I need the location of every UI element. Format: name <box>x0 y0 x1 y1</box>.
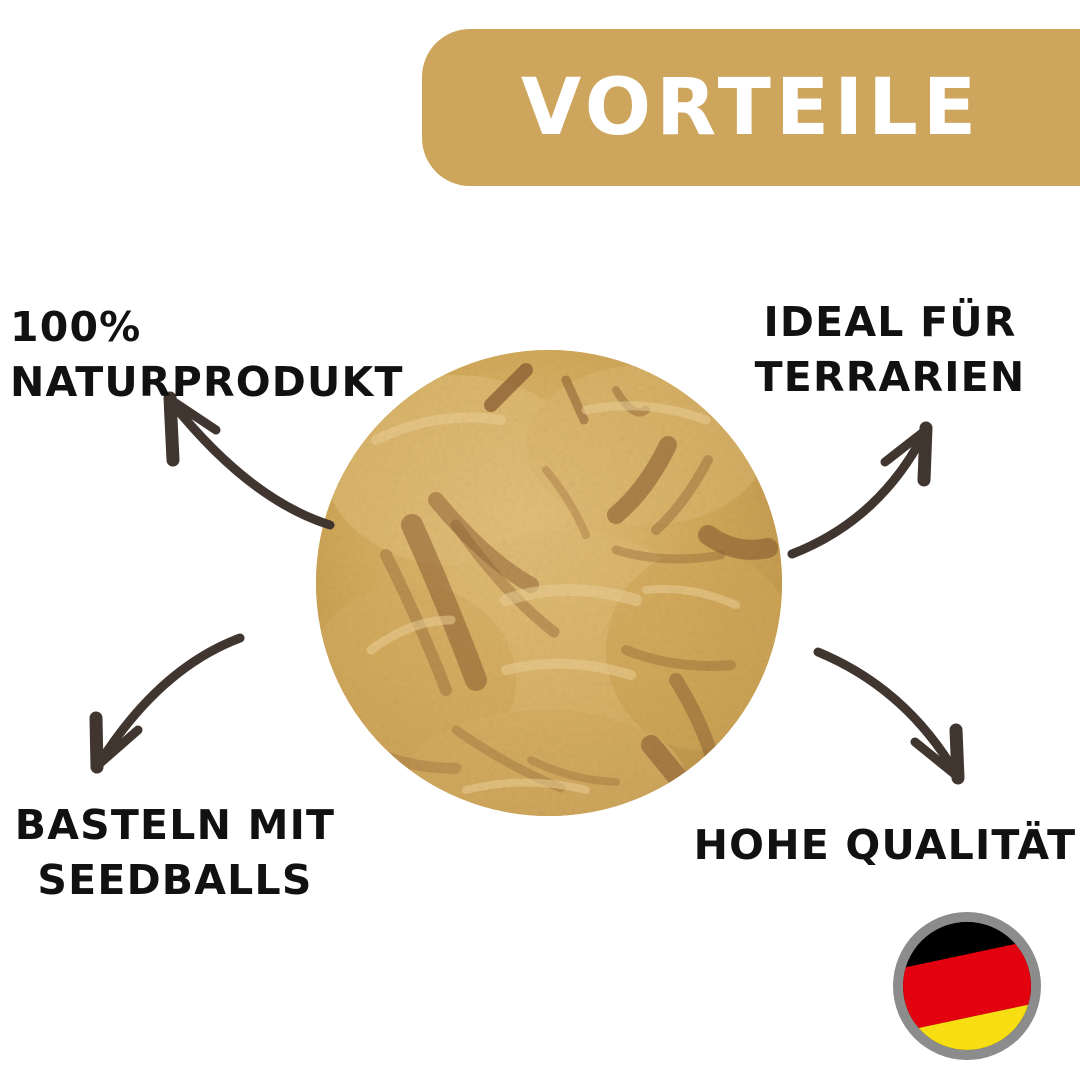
feature-label-naturprodukt: 100% NATURPRODUKT <box>10 300 480 411</box>
arrow-top-left-icon <box>170 398 330 525</box>
feature-label-terrarien: IDEAL FÜR TERRARIEN <box>700 295 1080 406</box>
feature-label-seedballs: BASTELN MIT SEEDBALLS <box>0 798 350 909</box>
clay-powder-texture <box>316 350 782 816</box>
german-flag-badge <box>893 912 1041 1060</box>
arrow-top-right-icon <box>792 428 926 554</box>
arrow-bottom-right-icon <box>818 652 958 778</box>
page-title: VORTEILE <box>422 29 1080 186</box>
infographic-canvas: VORTEILE <box>0 0 1080 1080</box>
german-flag-icon <box>903 922 1031 1050</box>
product-image-circle <box>316 350 782 816</box>
feature-label-qualitaet: HOHE QUALITÄT <box>690 818 1080 873</box>
arrow-bottom-left-icon <box>96 638 240 767</box>
header-banner: VORTEILE <box>422 29 1080 186</box>
flag-stripes <box>903 922 1031 1050</box>
